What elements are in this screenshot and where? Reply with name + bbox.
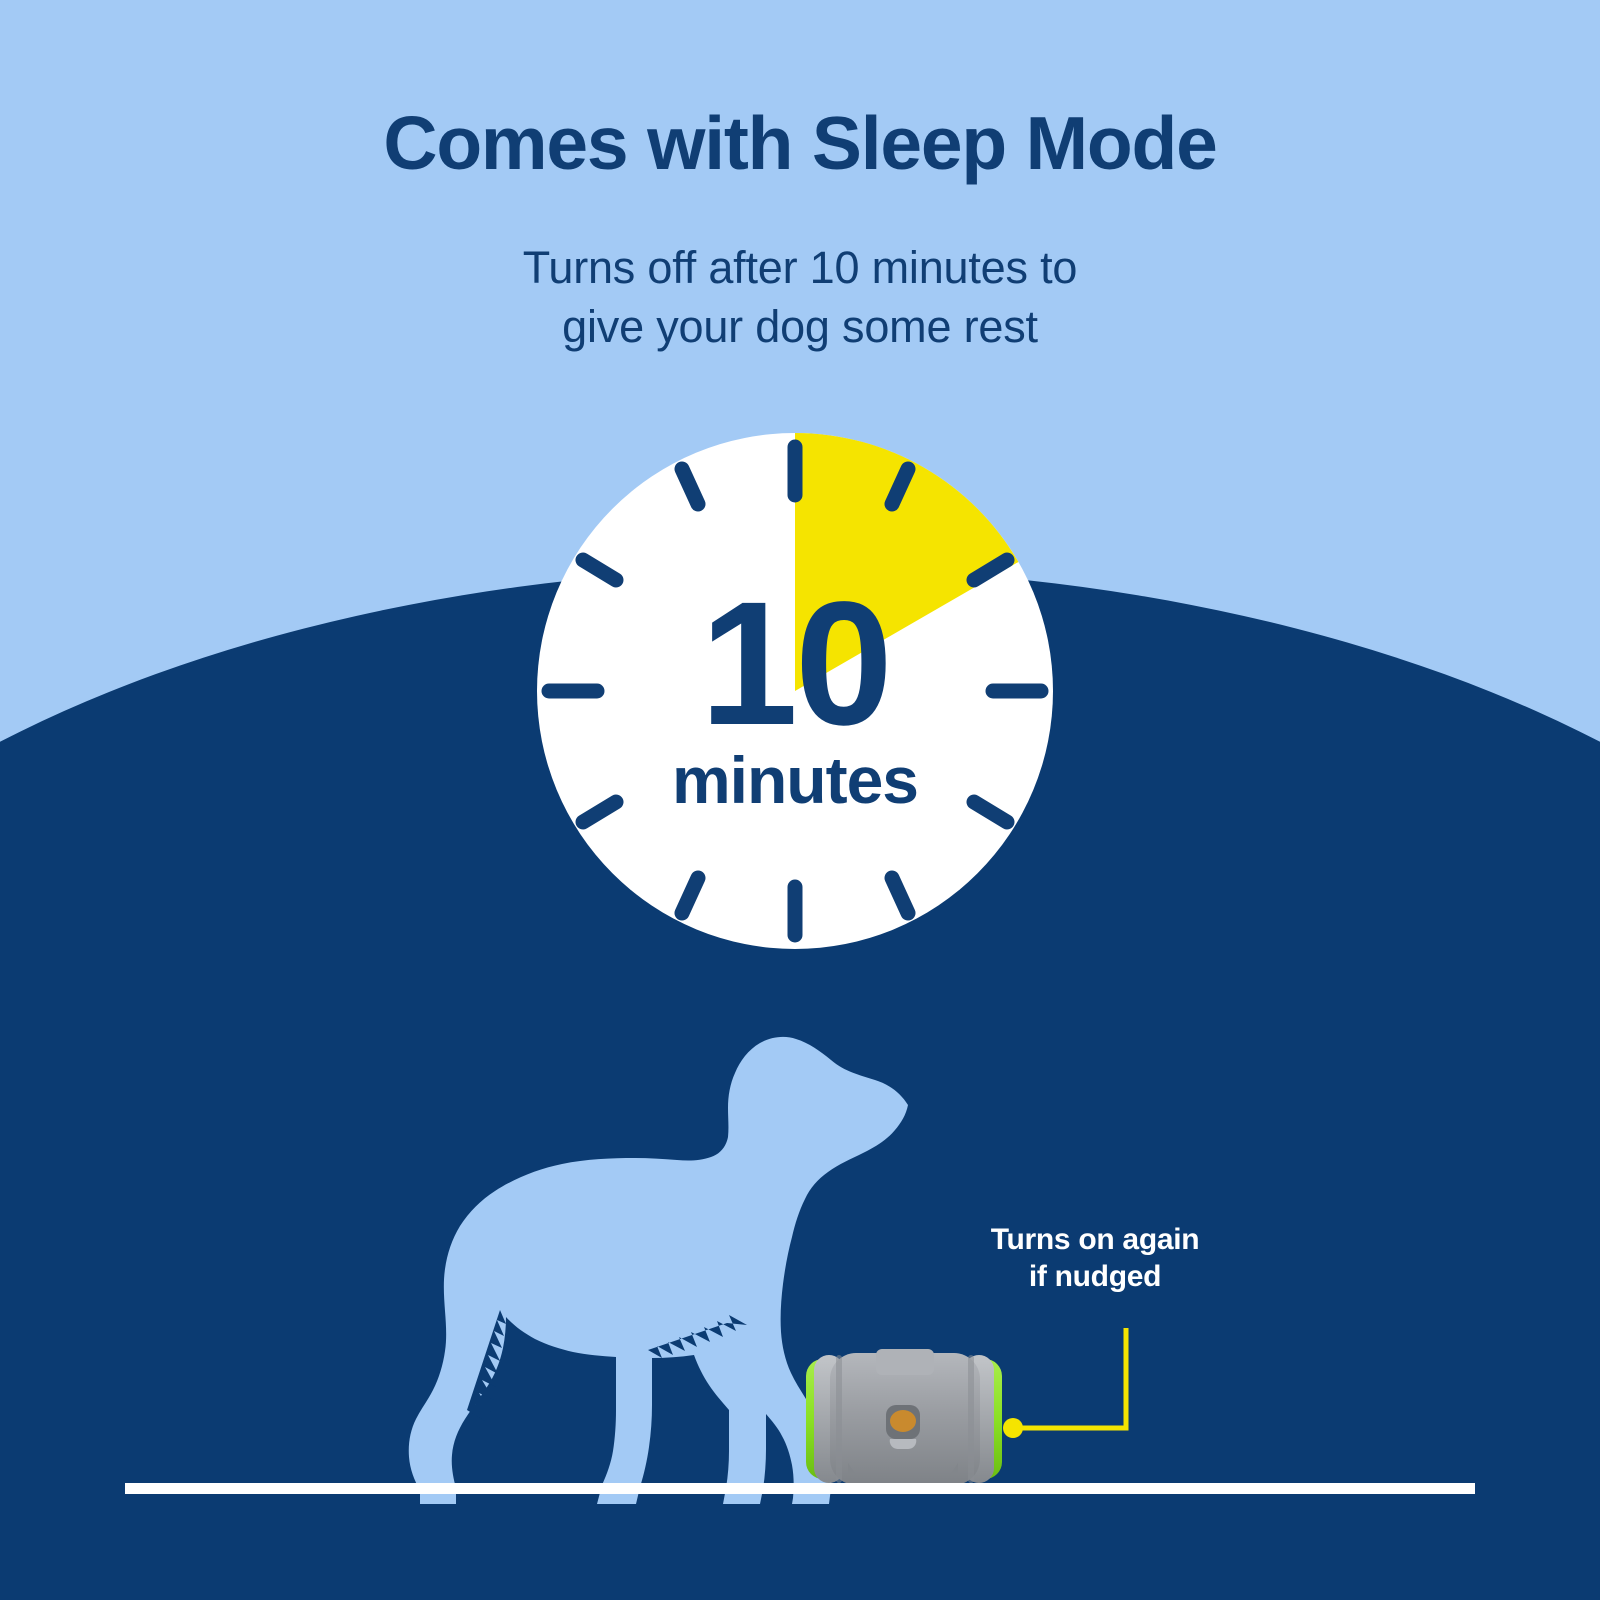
- page-subheadline: Turns off after 10 minutes to give your …: [0, 238, 1600, 357]
- callout-line-2: if nudged: [930, 1259, 1260, 1296]
- toy-top-panel: [876, 1349, 934, 1375]
- dog-toy-product-icon: [800, 1347, 1008, 1487]
- toy-seam-right: [968, 1355, 974, 1483]
- callout-line-1: Turns on again: [930, 1222, 1260, 1259]
- toy-seam-left: [836, 1355, 842, 1483]
- ground-line: [125, 1483, 1475, 1494]
- subheadline-line-1: Turns off after 10 minutes to: [0, 238, 1600, 297]
- clock-face-svg: [535, 433, 1055, 949]
- treat-icon: [890, 1410, 916, 1432]
- page-headline: Comes with Sleep Mode: [0, 104, 1600, 184]
- toy-slot-lip: [890, 1439, 917, 1449]
- timer-clock-graphic: 10 minutes: [535, 433, 1055, 949]
- subheadline-line-2: give your dog some rest: [0, 297, 1600, 356]
- dog-toy-svg: [800, 1347, 1008, 1487]
- callout-label: Turns on again if nudged: [930, 1222, 1260, 1295]
- infographic-canvas: Comes with Sleep Mode Turns off after 10…: [0, 0, 1600, 1600]
